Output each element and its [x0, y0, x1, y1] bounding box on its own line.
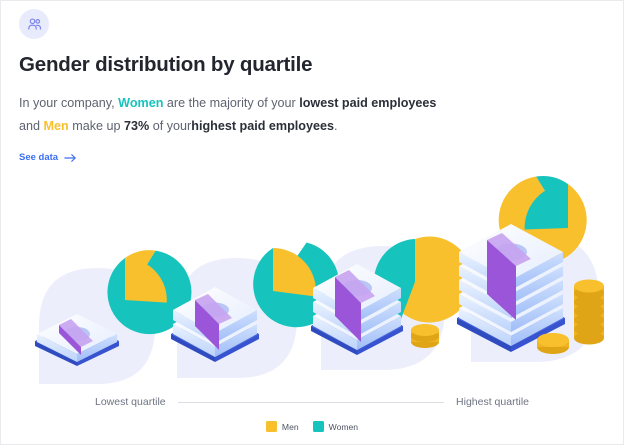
chart-svg — [1, 166, 624, 401]
page-title: Gender distribution by quartile — [19, 53, 605, 78]
subtitle-part3: and — [19, 119, 40, 133]
gender-distribution-card: Gender distribution by quartile In your … — [0, 0, 624, 445]
chart-illustration — [1, 166, 623, 401]
axis-connector-line — [178, 402, 444, 403]
subtitle-part2: are the majority of your — [167, 96, 296, 110]
money-stack-highest-quartile — [457, 224, 604, 354]
subtitle-part5: of your — [153, 119, 192, 133]
coin-single-4 — [537, 333, 569, 354]
people-icon — [19, 9, 49, 39]
coin-pile-3 — [411, 324, 439, 348]
axis-row: Lowest quartile Highest quartile — [1, 391, 623, 413]
subtitle-period: . — [334, 119, 338, 133]
card-header: Gender distribution by quartile In your … — [19, 9, 605, 165]
legend-item-men[interactable]: Men — [266, 421, 299, 432]
subtitle-part4: make up — [72, 119, 120, 133]
legend-label-women: Women — [329, 422, 358, 432]
legend-label-men: Men — [282, 422, 299, 432]
chart-legend: Men Women — [1, 421, 623, 432]
subtitle-highest-paid: highest paid employees — [191, 119, 334, 133]
see-data-link[interactable]: See data — [19, 152, 77, 163]
axis-label-lowest: Lowest quartile — [95, 396, 166, 408]
subtitle-percent: 73% — [124, 119, 149, 133]
arrow-right-icon — [64, 153, 77, 163]
subtitle-women-token: Women — [118, 96, 163, 110]
subtitle-men-token: Men — [44, 119, 69, 133]
legend-swatch-men — [266, 421, 277, 432]
subtitle-lowest-paid: lowest paid employees — [299, 96, 436, 110]
subtitle: In your company, Women are the majority … — [19, 92, 439, 139]
coin-pile-4-tall — [574, 280, 604, 345]
legend-item-women[interactable]: Women — [313, 421, 358, 432]
see-data-label: See data — [19, 152, 58, 163]
subtitle-part1: In your company, — [19, 96, 115, 110]
axis-label-highest: Highest quartile — [456, 396, 529, 408]
legend-swatch-women — [313, 421, 324, 432]
